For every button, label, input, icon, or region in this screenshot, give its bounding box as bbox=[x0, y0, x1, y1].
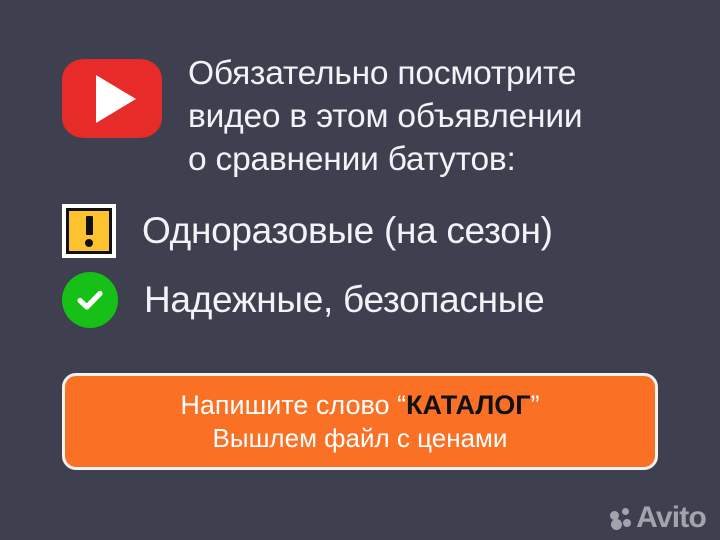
warning-exclamation-icon bbox=[62, 204, 116, 258]
cta-quote-close: ” bbox=[531, 390, 540, 420]
cta-keyword: КАТАЛОГ bbox=[406, 390, 531, 420]
headline-line-3: о сравнении батутов: bbox=[188, 138, 582, 181]
advertisement-banner: Обязательно посмотрите видео в этом объя… bbox=[0, 0, 720, 540]
headline-text: Обязательно посмотрите видео в этом объя… bbox=[188, 52, 582, 181]
youtube-play-icon[interactable] bbox=[62, 59, 162, 138]
cta-secondary-line: Вышлем файл с ценами bbox=[213, 422, 508, 454]
warning-icon-inner bbox=[66, 208, 112, 254]
header-block: Обязательно посмотрите видео в этом объя… bbox=[62, 52, 662, 181]
cta-button[interactable]: Напишите слово “КАТАЛОГ” Вышлем файл с ц… bbox=[62, 373, 658, 470]
checkmark-glyph bbox=[73, 283, 107, 317]
check-circle-icon bbox=[62, 272, 118, 328]
cta-primary-line: Напишите слово “КАТАЛОГ” bbox=[180, 389, 539, 422]
avito-dots-logo bbox=[610, 507, 633, 530]
headline-line-2: видео в этом объявлении bbox=[188, 95, 582, 138]
cta-prefix-text: Напишите слово bbox=[180, 390, 397, 420]
avito-brand-text: Avito bbox=[636, 503, 706, 533]
avito-watermark: Avito bbox=[610, 503, 706, 533]
exclamation-mark-glyph bbox=[86, 216, 93, 247]
feature-row-reliable: Надежные, безопасные bbox=[62, 272, 544, 328]
play-triangle-icon bbox=[96, 75, 136, 123]
feature-label-reliable: Надежные, безопасные bbox=[144, 280, 544, 320]
feature-row-disposable: Одноразовые (на сезон) bbox=[62, 204, 553, 258]
headline-line-1: Обязательно посмотрите bbox=[188, 52, 582, 95]
cta-quote-open: “ bbox=[397, 390, 406, 420]
feature-label-disposable: Одноразовые (на сезон) bbox=[142, 211, 553, 251]
